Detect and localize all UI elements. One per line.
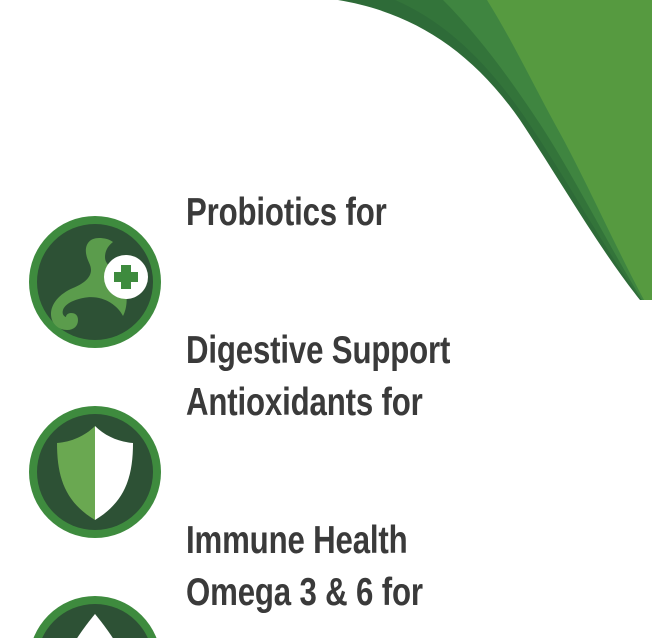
feature-label-line: Antioxidants for <box>186 380 423 426</box>
icon-slot <box>0 592 190 638</box>
feature-label: Omega 3 & 6 for Skin and Coat <box>186 478 423 638</box>
badge-omega <box>25 592 165 638</box>
feature-label-line: Omega 3 & 6 for <box>186 570 423 616</box>
feature-row: Omega 3 & 6 for Skin and Coat <box>0 478 652 638</box>
feature-label-line: Probiotics for <box>186 190 450 236</box>
water-droplet-icon <box>25 592 165 638</box>
benefits-graphic: Probiotics for Digestive Support Antioxi… <box>0 0 652 638</box>
